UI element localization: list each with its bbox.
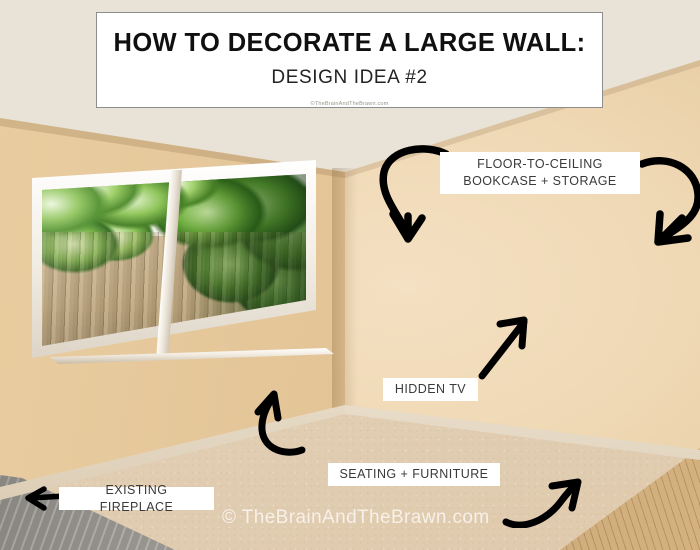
wall-corner-shading [332, 168, 358, 408]
watermark: © TheBrainAndTheBrawn.com [222, 507, 490, 529]
window [28, 160, 318, 360]
callout-fireplace-label: EXISTING FIREPLACE [69, 482, 204, 516]
callout-bookcase: FLOOR-TO-CEILING BOOKCASE + STORAGE [440, 152, 640, 194]
callout-seating-label: SEATING + FURNITURE [340, 466, 489, 483]
page-title: HOW TO DECORATE A LARGE WALL: [114, 29, 586, 58]
title-card: HOW TO DECORATE A LARGE WALL: DESIGN IDE… [96, 12, 603, 108]
callout-fireplace: EXISTING FIREPLACE [59, 487, 214, 510]
arrow-to-hidden-tv [474, 312, 536, 382]
arrow-to-seating-left [240, 390, 310, 460]
callout-bookcase-line2: BOOKCASE + STORAGE [463, 173, 616, 190]
callout-hidden-tv: HIDDEN TV [383, 378, 478, 401]
page-subtitle: DESIGN IDEA #2 [271, 67, 427, 89]
title-credit: ©TheBrainAndTheBrawn.com [311, 101, 389, 107]
callout-bookcase-line1: FLOOR-TO-CEILING [477, 156, 603, 173]
infographic-scene: HOW TO DECORATE A LARGE WALL: DESIGN IDE… [0, 0, 700, 550]
arrow-to-right-wall [636, 150, 700, 260]
arrow-to-seating-right [500, 478, 596, 528]
callout-seating: SEATING + FURNITURE [328, 463, 500, 486]
callout-hidden-tv-label: HIDDEN TV [395, 381, 466, 398]
